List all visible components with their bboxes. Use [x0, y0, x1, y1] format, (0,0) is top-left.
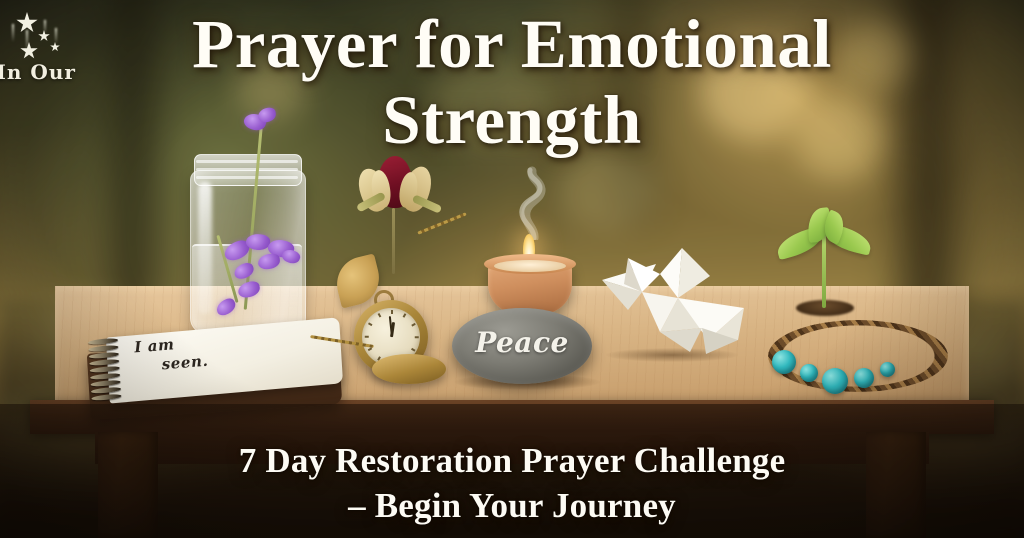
- table-apron: [95, 432, 929, 464]
- watch-minute-hand: [388, 316, 392, 337]
- bracelet-bead-3: [822, 368, 848, 394]
- jar-thread-1: [196, 160, 298, 163]
- origami-crane-icon: [598, 236, 748, 358]
- promo-banner: I am seen.: [0, 0, 1024, 538]
- mason-jar-with-lavender: [182, 148, 312, 338]
- table-leg-left: [98, 432, 158, 538]
- watch-tick-8: [368, 348, 372, 351]
- bracelet-bead-4: [854, 368, 874, 388]
- jar-thread-2: [196, 168, 298, 171]
- star-streak-2: [12, 24, 14, 42]
- peace-stone: Peace: [452, 308, 592, 384]
- origami-crane: [598, 236, 748, 358]
- watch-tick-9: [365, 336, 369, 338]
- star-streak-1: [26, 30, 28, 52]
- watch-tick-4: [411, 348, 415, 351]
- notebook-spiral-binding: [88, 337, 128, 406]
- beaded-bracelet: [768, 320, 948, 392]
- terracotta-candle: [468, 168, 588, 318]
- candle-smoke-icon: [504, 166, 562, 240]
- watch-tick-11: [378, 313, 381, 317]
- watch-tick-1: [403, 313, 406, 317]
- bracelet-bead-2: [800, 364, 818, 382]
- seedling-stem: [822, 232, 826, 308]
- star-streak-4: [55, 28, 57, 44]
- bracelet-bead-5: [880, 362, 895, 377]
- stone-engraved-text: Peace: [452, 326, 592, 359]
- brand-watermark-text: eace In Our: [0, 60, 124, 84]
- table-leg-right: [866, 432, 926, 538]
- candle-wax-surface: [494, 260, 566, 272]
- rose-stem: [392, 208, 395, 274]
- bracelet-bead-1: [772, 350, 796, 374]
- pocket-watch: [350, 282, 434, 382]
- watch-tick-10: [368, 323, 372, 326]
- jar-highlight: [198, 182, 212, 314]
- rose-bloom: [360, 156, 430, 214]
- brand-watermark[interactable]: eace In Our: [0, 2, 118, 98]
- watch-tick-3: [415, 336, 419, 338]
- watch-open-lid: [372, 354, 446, 384]
- falling-stars-icon: [0, 4, 86, 64]
- watch-tick-2: [411, 323, 415, 326]
- dried-rose-and-pocket-watch: [332, 152, 462, 372]
- watch-chain-upper: [417, 212, 466, 234]
- watch-tick-12: [391, 310, 393, 314]
- star-medium: [20, 42, 38, 60]
- seedling-sprout: [770, 206, 880, 314]
- notebook-handwriting-line1: I am: [134, 335, 176, 356]
- spiral-notebook: I am seen.: [81, 314, 348, 426]
- jar-thread-3: [196, 176, 298, 179]
- star-streak-3: [44, 20, 46, 34]
